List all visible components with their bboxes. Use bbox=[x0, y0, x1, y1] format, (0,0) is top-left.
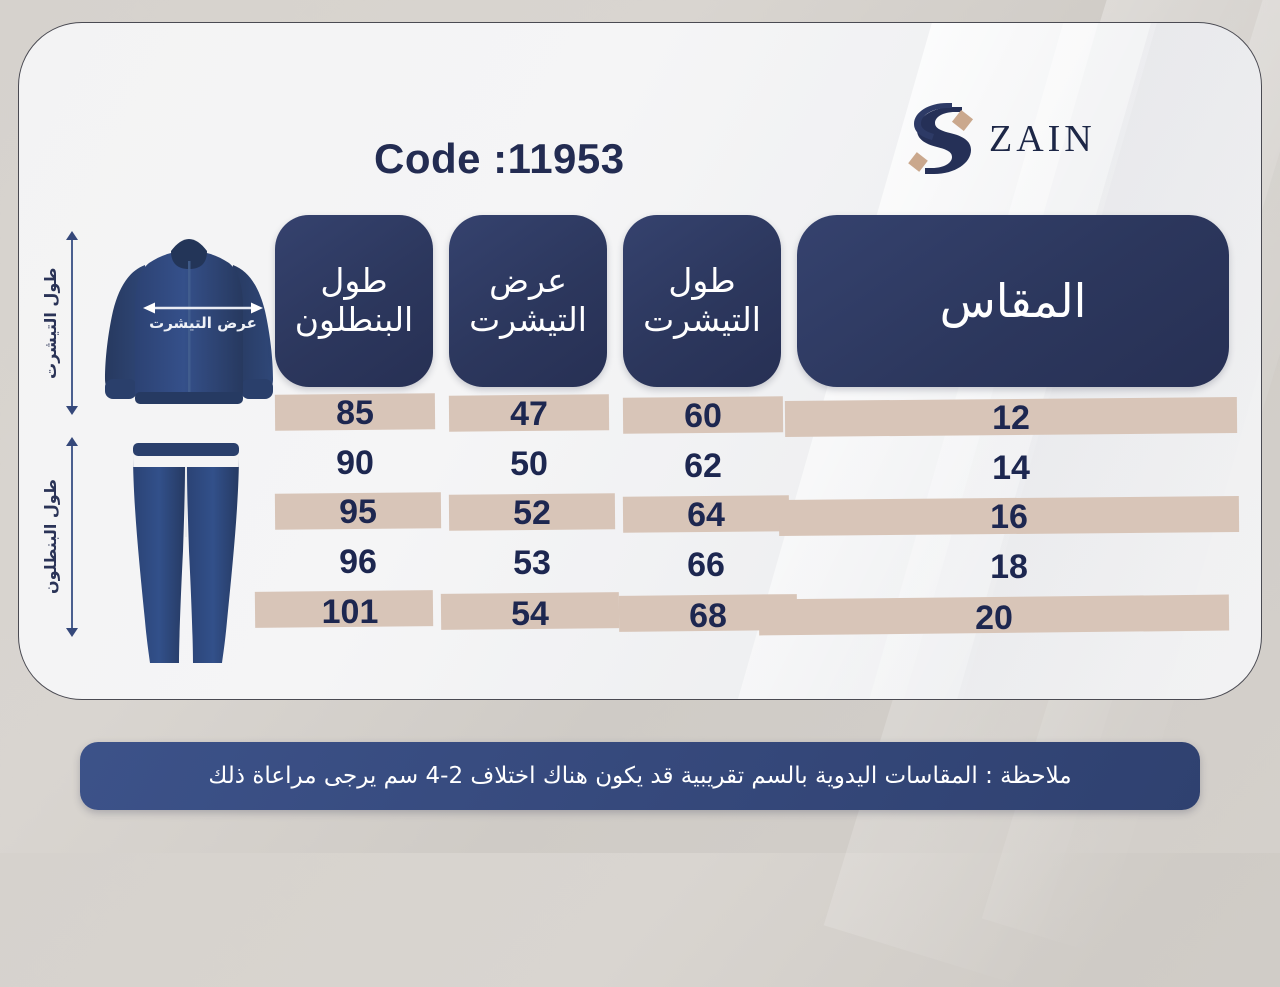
cell-pants-length: 96 bbox=[275, 543, 441, 582]
size-chart-card: Code :11953 ZAIN bbox=[18, 22, 1262, 700]
cell-size: 12 bbox=[785, 399, 1237, 438]
cell-size: 20 bbox=[759, 599, 1229, 638]
cell-shirt-length: 64 bbox=[623, 496, 789, 535]
size-table-body: 85 47 60 12 90 50 62 14 95 52 64 16 96 5… bbox=[19, 23, 1262, 700]
cell-pants-length: 85 bbox=[275, 394, 435, 433]
measurement-note-bar: ملاحظة : المقاسات اليدوية بالسم تقريبية … bbox=[80, 742, 1200, 810]
cell-shirt-length: 66 bbox=[623, 546, 789, 585]
cell-pants-length: 90 bbox=[275, 444, 435, 483]
cell-shirt-width: 52 bbox=[449, 494, 615, 533]
measurement-note-text: ملاحظة : المقاسات اليدوية بالسم تقريبية … bbox=[208, 763, 1071, 789]
cell-pants-length: 101 bbox=[261, 593, 439, 632]
cell-shirt-width: 50 bbox=[449, 445, 609, 484]
cell-shirt-width: 53 bbox=[449, 544, 615, 583]
cell-shirt-width: 47 bbox=[449, 395, 609, 434]
cell-pants-length: 95 bbox=[275, 493, 441, 532]
cell-size: 14 bbox=[785, 449, 1237, 488]
cell-size: 16 bbox=[779, 498, 1239, 537]
cell-size: 18 bbox=[779, 548, 1239, 587]
cell-shirt-length: 60 bbox=[623, 397, 783, 436]
cell-shirt-width: 54 bbox=[441, 595, 619, 634]
cell-shirt-length: 62 bbox=[623, 447, 783, 486]
